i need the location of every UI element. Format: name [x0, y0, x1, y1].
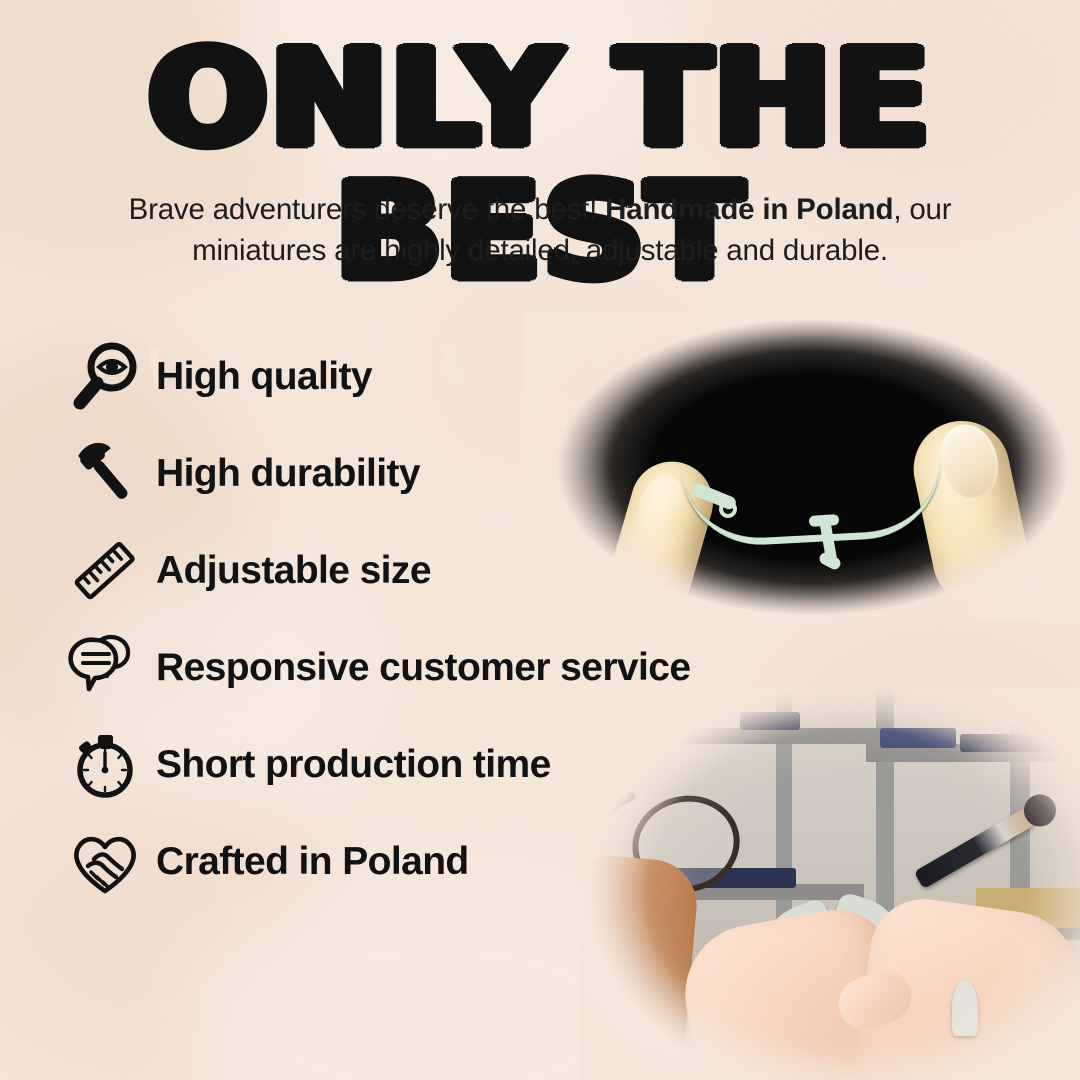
subtitle-bold-phrase: Handmade in Poland — [605, 193, 893, 226]
feature-label: High durability — [156, 452, 420, 496]
feature-label: Short production time — [156, 743, 551, 787]
parts-bin — [880, 728, 956, 748]
miniature-detail — [719, 500, 737, 518]
subtitle-text-leading: Brave adventurers deserve the best! — [129, 193, 606, 226]
parts-bin — [740, 712, 800, 730]
subtitle-text-comma: , — [893, 193, 901, 226]
wooden-arm-object — [580, 853, 700, 1080]
photo-workshop-painting — [580, 688, 1080, 1080]
handshake-heart-icon — [62, 819, 148, 905]
stopwatch-icon — [62, 722, 148, 808]
ruler-icon — [62, 528, 148, 614]
subtitle: Brave adventurers deserve the best! Hand… — [90, 190, 990, 271]
magnifier-eye-icon — [62, 334, 148, 420]
photo-scene — [580, 688, 1080, 1080]
unpainted-miniature — [952, 980, 978, 1036]
feature-label: High quality — [156, 355, 372, 399]
infographic-page: ONLY THE BEST Brave adventurers deserve … — [0, 0, 1080, 1080]
photo-torn-edge-mask — [580, 688, 1080, 1080]
parts-bin — [960, 734, 1080, 752]
speech-bubbles-icon — [62, 625, 148, 711]
photo-scene — [523, 312, 1080, 622]
miniature-detail — [817, 551, 842, 572]
feature-label: Adjustable size — [156, 549, 431, 593]
hammer-icon — [62, 431, 148, 517]
shelf-board — [684, 728, 904, 744]
photo-flexible-miniature — [523, 312, 1080, 622]
feature-label: Responsive customer service — [156, 646, 690, 690]
feature-label: Crafted in Poland — [156, 840, 469, 884]
photo-torn-edge-mask — [523, 312, 1080, 622]
